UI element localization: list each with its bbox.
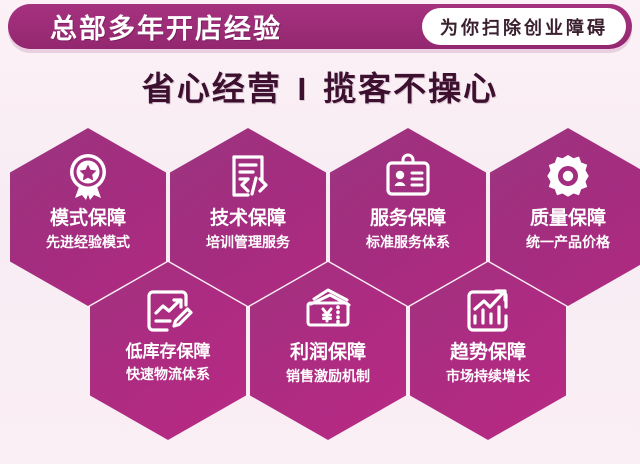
hex-title: 技术保障	[210, 208, 286, 230]
hex-subtitle: 销售激励机制	[286, 366, 370, 386]
feature-hex-grid: 模式保障 先进经验模式 技术保障 培训管理服务	[0, 126, 640, 446]
hex-subtitle: 标准服务体系	[366, 232, 450, 252]
hex-title: 利润保障	[290, 342, 366, 364]
hex-subtitle: 培训管理服务	[206, 232, 290, 252]
page-title-left: 省心经营	[142, 70, 282, 107]
header-badge-label: 为你扫除创业障碍	[440, 14, 608, 40]
hex-title: 质量保障	[530, 208, 606, 230]
growth-chart-icon	[461, 284, 515, 338]
header-badge: 为你扫除创业障碍	[422, 8, 626, 45]
award-medal-icon	[61, 150, 115, 204]
gear-icon	[541, 150, 595, 204]
hex-title: 模式保障	[50, 208, 126, 230]
hex-subtitle: 快速物流体系	[126, 364, 210, 384]
hex-subtitle: 先进经验模式	[46, 232, 130, 252]
page-title-right: 揽客不操心	[323, 70, 498, 107]
hex-subtitle: 市场持续增长	[446, 366, 530, 386]
id-card-badge-icon	[381, 150, 435, 204]
promo-poster: 总部多年开店经验 为你扫除创业障碍 省心经营Ⅰ揽客不操心 模式保障 先进经验模	[0, 0, 640, 464]
hex-title: 低库存保障	[126, 342, 211, 362]
header-title: 总部多年开店经验	[50, 7, 282, 46]
hex-subtitle: 统一产品价格	[526, 232, 610, 252]
header-banner: 总部多年开店经验 为你扫除创业障碍	[8, 4, 632, 49]
yen-ticket-icon	[301, 284, 355, 338]
hex-title: 趋势保障	[450, 342, 526, 364]
chart-pencil-icon	[141, 284, 195, 338]
hex-title: 服务保障	[370, 208, 446, 230]
page-title: 省心经营Ⅰ揽客不操心	[0, 62, 640, 110]
code-document-icon	[221, 150, 275, 204]
title-separator-icon: Ⅰ	[297, 73, 308, 108]
